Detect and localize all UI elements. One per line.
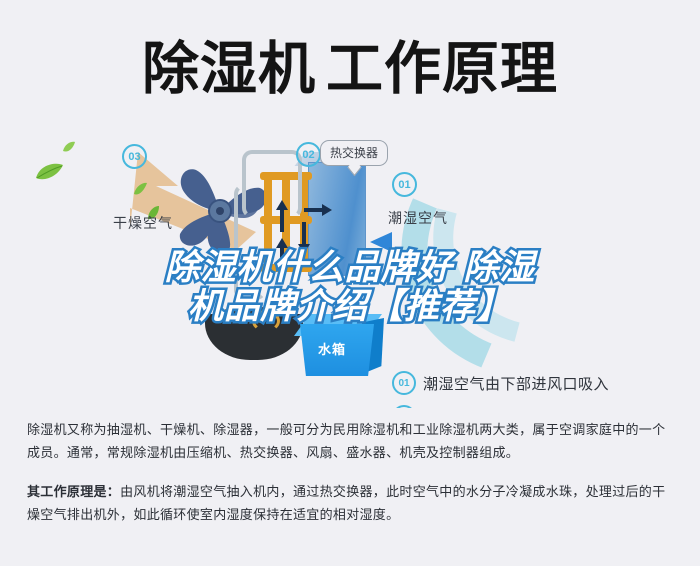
page-title-left: 除湿机 <box>142 41 316 98</box>
badge-02-heat-exchanger: 02 <box>296 142 321 167</box>
dehumidifier-diagram: 水箱 02 热交换器 01 潮湿空气 03 干燥空气 01 潮湿空气由下部进风口… <box>0 118 700 408</box>
dry-air-label: 干燥空气 <box>113 213 173 233</box>
badge-03-dry-air: 03 <box>122 144 147 169</box>
article-page: 除湿机 工作原理 <box>0 0 700 566</box>
compressor-coil-ring <box>252 310 280 332</box>
legend-badge-02: 02 <box>392 405 416 408</box>
water-tank-label: 水箱 <box>318 339 346 358</box>
article-body: 除湿机又称为抽湿机、干燥机、除湿器，一般可分为民用除湿机和工业除湿机两大类，属于… <box>27 418 675 526</box>
body-paragraph-2-lead: 其工作原理是： <box>27 484 120 499</box>
legend-item: 01 潮湿空气由下部进风口吸入 <box>392 366 692 400</box>
body-paragraph-2: 其工作原理是：由风机将潮湿空气抽入机内，通过热交换器，此时空气中的水分子冷凝成水… <box>27 480 675 526</box>
leaf-icon <box>132 182 148 201</box>
page-title-right: 工作原理 <box>326 41 558 98</box>
badge-01-humid-air: 01 <box>392 172 417 197</box>
humid-air-label: 潮湿空气 <box>388 208 448 228</box>
leaf-icon <box>62 140 76 158</box>
legend-badge-01: 01 <box>392 371 416 395</box>
heat-exchanger-callout: 热交换器 <box>320 140 388 166</box>
legend-text-02: 潮湿空气经过热交换器冷凝成水珠 <box>423 407 656 409</box>
body-paragraph-1: 除湿机又称为抽湿机、干燥机、除湿器，一般可分为民用除湿机和工业除湿机两大类，属于… <box>27 418 675 464</box>
body-paragraph-2-rest: 由风机将潮湿空气抽入机内，通过热交换器，此时空气中的水分子冷凝成水珠，处理过后的… <box>27 484 665 522</box>
process-legend: 01 潮湿空气由下部进风口吸入 02 潮湿空气经过热交换器冷凝成水珠 03 从上… <box>392 366 692 408</box>
page-title: 除湿机 工作原理 <box>0 30 700 108</box>
legend-text-01: 潮湿空气由下部进风口吸入 <box>423 373 609 394</box>
legend-item: 02 潮湿空气经过热交换器冷凝成水珠 <box>392 400 692 408</box>
heat-exchanger-assembly <box>250 144 380 324</box>
leaf-icon <box>34 162 64 187</box>
